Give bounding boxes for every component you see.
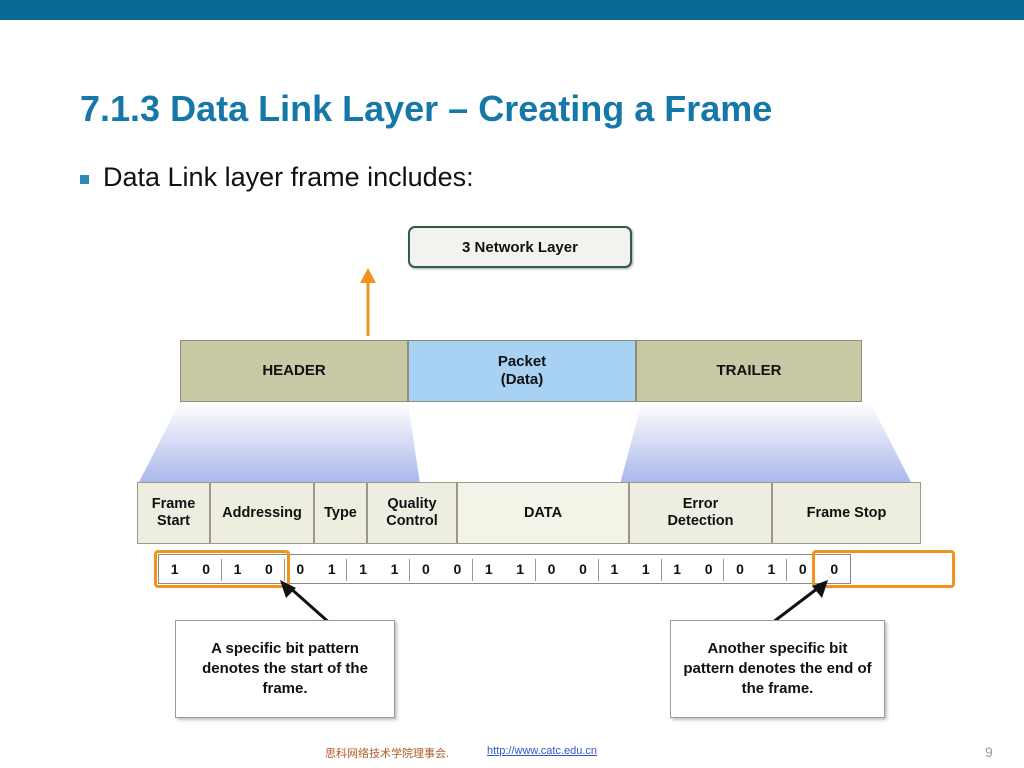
up-arrow-icon xyxy=(356,268,380,336)
frame-row: HEADER Packet (Data) TRAILER xyxy=(180,340,862,402)
bullet-row: Data Link layer frame includes: xyxy=(80,163,474,193)
bit-cell: 1 xyxy=(504,555,535,583)
page-number: 9 xyxy=(985,744,993,760)
packet-label-line2: (Data) xyxy=(498,371,546,389)
bit-cell: 0 xyxy=(410,555,441,583)
frame-structure-diagram: 3 Network Layer HEADER Packet (Data) TRA… xyxy=(130,220,930,740)
bullet-marker-icon xyxy=(80,175,89,184)
bit-cell: 1 xyxy=(379,555,410,583)
frame-cell-packet: Packet (Data) xyxy=(408,340,636,402)
network-layer-box: 3 Network Layer xyxy=(408,226,632,268)
start-pattern-highlight xyxy=(154,550,290,588)
footer-chinese-text: 思科网络技术学院理事会. xyxy=(325,745,449,761)
detail-cell-frame-stop: Frame Stop xyxy=(772,482,921,544)
page-title: 7.1.3 Data Link Layer – Creating a Frame xyxy=(80,88,772,130)
bit-cell: 1 xyxy=(473,555,504,583)
error-line2: Detection xyxy=(667,513,733,530)
detail-cell-type: Type xyxy=(314,482,367,544)
bit-cell: 1 xyxy=(599,555,630,583)
detail-cell-quality-control: Quality Control xyxy=(367,482,457,544)
footer-url-link[interactable]: http://www.catc.edu.cn xyxy=(487,745,597,757)
frame-start-line2: Start xyxy=(152,513,196,530)
top-accent-bar xyxy=(0,0,1024,20)
detail-row: Frame Start Addressing Type Quality Cont… xyxy=(137,482,921,544)
bit-cell: 1 xyxy=(316,555,347,583)
detail-cell-frame-start: Frame Start xyxy=(137,482,210,544)
detail-cell-addressing: Addressing xyxy=(210,482,314,544)
callout-start-pattern: A specific bit pattern denotes the start… xyxy=(175,620,395,718)
frame-cell-trailer: TRAILER xyxy=(636,340,862,402)
bit-cell: 0 xyxy=(442,555,473,583)
bit-cell: 0 xyxy=(536,555,567,583)
detail-cell-error-detection: Error Detection xyxy=(629,482,772,544)
end-pattern-highlight xyxy=(812,550,955,588)
error-line1: Error xyxy=(667,496,733,513)
quality-line2: Control xyxy=(386,513,438,530)
frame-cell-header: HEADER xyxy=(180,340,408,402)
packet-label-line1: Packet xyxy=(498,353,546,371)
quality-line1: Quality xyxy=(386,496,438,513)
bit-cell: 1 xyxy=(347,555,378,583)
bit-cell: 1 xyxy=(662,555,693,583)
callout-end-pattern: Another specific bit pattern denotes the… xyxy=(670,620,885,718)
bit-cell: 1 xyxy=(756,555,787,583)
detail-cell-data: DATA xyxy=(457,482,629,544)
bit-cell: 0 xyxy=(693,555,724,583)
frame-start-line1: Frame xyxy=(152,496,196,513)
funnel-left-shape xyxy=(130,402,420,484)
funnel-right-shape xyxy=(620,402,920,484)
bit-cell: 0 xyxy=(724,555,755,583)
bit-cell: 1 xyxy=(630,555,661,583)
bit-cell: 0 xyxy=(567,555,598,583)
bullet-text: Data Link layer frame includes: xyxy=(103,163,474,193)
